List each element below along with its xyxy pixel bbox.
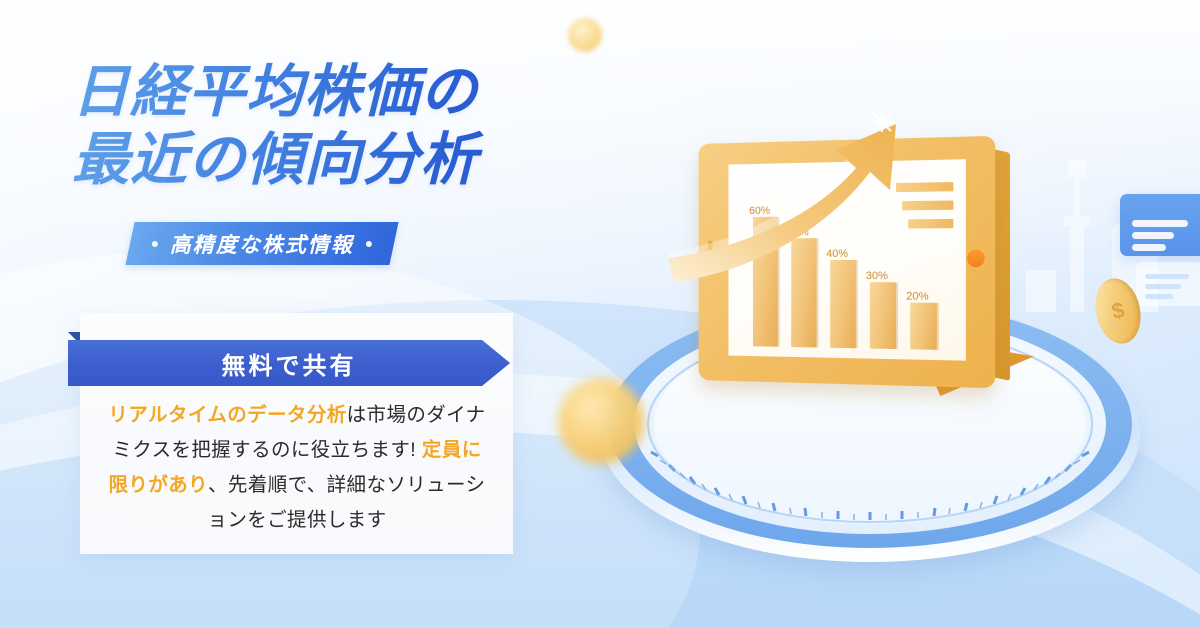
floating-ui-card: [1120, 194, 1200, 256]
ui-card2-line-2: [1145, 284, 1181, 289]
hero-illustration: 60% 50% 40% 30% 20%: [540, 0, 1200, 628]
body-highlight-1: リアルタイムのデータ分析: [108, 404, 346, 426]
subtitle-badge: 高精度な株式情報: [125, 222, 398, 265]
coin-left-blurred: [558, 378, 644, 464]
body-text-2: 、先着順で、詳細なソリューションをご提供します: [207, 474, 485, 531]
ui-card-line-2: [1132, 232, 1174, 239]
ribbon-banner: 無料で共有: [68, 340, 510, 386]
page-title: 日経平均株価の 最近の傾向分析: [72, 60, 592, 192]
ui-card2-line-3: [1145, 294, 1173, 299]
headline-line-1: 日経平均株価の: [72, 60, 592, 124]
upward-trend-arrow: [660, 110, 990, 310]
ribbon-arrow[interactable]: 無料で共有: [68, 340, 510, 386]
bullet-dot-right-icon: [366, 241, 372, 247]
ribbon-label: 無料で共有: [222, 346, 357, 381]
ui-card-line-3: [1132, 244, 1166, 251]
coin-top-small: [568, 18, 602, 52]
ui-card-line-1: [1132, 220, 1188, 227]
info-card-body: リアルタイムのデータ分析は市場のダイナミクスを把握するのに役立ちます! 定員に限…: [104, 398, 490, 538]
ui-card2-line-1: [1145, 274, 1189, 279]
headline-line-2: 最近の傾向分析: [72, 128, 592, 192]
bullet-dot-left-icon: [152, 241, 158, 247]
floating-ui-card-secondary: [1136, 262, 1200, 306]
subtitle-badge-label: 高精度な株式情報: [170, 229, 354, 259]
poster-canvas: 日経平均株価の 最近の傾向分析 高精度な株式情報 無料で共有 リアルタイムのデー…: [0, 0, 1200, 628]
